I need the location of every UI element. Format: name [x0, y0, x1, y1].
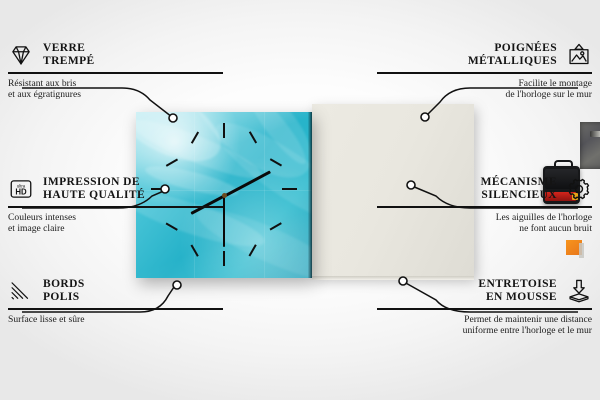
metal-hanger-plate — [580, 122, 600, 169]
glass-edge — [308, 112, 312, 278]
feature-title: BORDS POLIS — [43, 278, 85, 304]
feature-divider — [377, 308, 592, 310]
feature-divider — [8, 308, 223, 310]
feature-description: Permet de maintenir une distance uniform… — [377, 314, 592, 337]
feature-verre-trempe: VERRE TREMPÉ Résistant aux bris et aux é… — [8, 42, 223, 100]
foam-spacer-icon — [566, 278, 592, 304]
feature-header: POIGNÉES MÉTALLIQUES — [377, 42, 592, 68]
feature-header: MÉCANISME SILENCIEUX — [377, 176, 592, 202]
feature-title: POIGNÉES MÉTALLIQUES — [468, 42, 557, 68]
infographic-canvas: VERRE TREMPÉ Résistant aux bris et aux é… — [0, 0, 600, 400]
feature-poignees-metalliques: POIGNÉES MÉTALLIQUES Facilite le montage… — [377, 42, 592, 100]
ultra-hd-large-label: HD — [15, 188, 27, 197]
feature-header: VERRE TREMPÉ — [8, 42, 223, 68]
hour-tick — [282, 188, 297, 190]
feature-divider — [8, 72, 223, 74]
feature-title: ENTRETOISE EN MOUSSE — [478, 278, 557, 304]
feature-title: MÉCANISME SILENCIEUX — [481, 176, 557, 202]
gear-icon — [566, 176, 592, 202]
hanger-slot — [590, 131, 600, 137]
feature-description: Facilite le montage de l'horloge sur le … — [377, 78, 592, 101]
feature-header: BORDS POLIS — [8, 278, 223, 304]
hour-tick — [223, 251, 225, 266]
feature-title: VERRE TREMPÉ — [43, 42, 95, 68]
feature-header: ENTRETOISE EN MOUSSE — [377, 278, 592, 304]
feature-entretoise-en-mousse: ENTRETOISE EN MOUSSE Permet de maintenir… — [377, 278, 592, 336]
feature-description: Résistant aux bris et aux égratignures — [8, 78, 223, 101]
feature-description: Couleurs intenses et image claire — [8, 212, 223, 235]
feature-mecanisme-silencieux: MÉCANISME SILENCIEUX Les aiguilles de l'… — [377, 176, 592, 234]
feature-divider — [8, 206, 223, 208]
feature-header: ultra HD IMPRESSION DE HAUTE QUALITÉ — [8, 176, 223, 202]
feature-divider — [377, 72, 592, 74]
ultra-hd-icon: ultra HD — [8, 176, 34, 202]
feature-divider — [377, 206, 592, 208]
feature-title: IMPRESSION DE HAUTE QUALITÉ — [43, 176, 145, 202]
diamond-icon — [8, 42, 34, 68]
feature-impression-haute-qualite: ultra HD IMPRESSION DE HAUTE QUALITÉ Cou… — [8, 176, 223, 234]
picture-frame-icon — [566, 42, 592, 68]
polished-edge-icon — [8, 278, 34, 304]
feature-description: Surface lisse et sûre — [8, 314, 223, 325]
feature-bords-polis: BORDS POLIS Surface lisse et sûre — [8, 278, 223, 325]
foam-spacer — [566, 240, 582, 255]
feature-description: Les aiguilles de l'horloge ne font aucun… — [377, 212, 592, 235]
clock-hub — [222, 193, 227, 198]
hour-tick — [223, 123, 225, 138]
